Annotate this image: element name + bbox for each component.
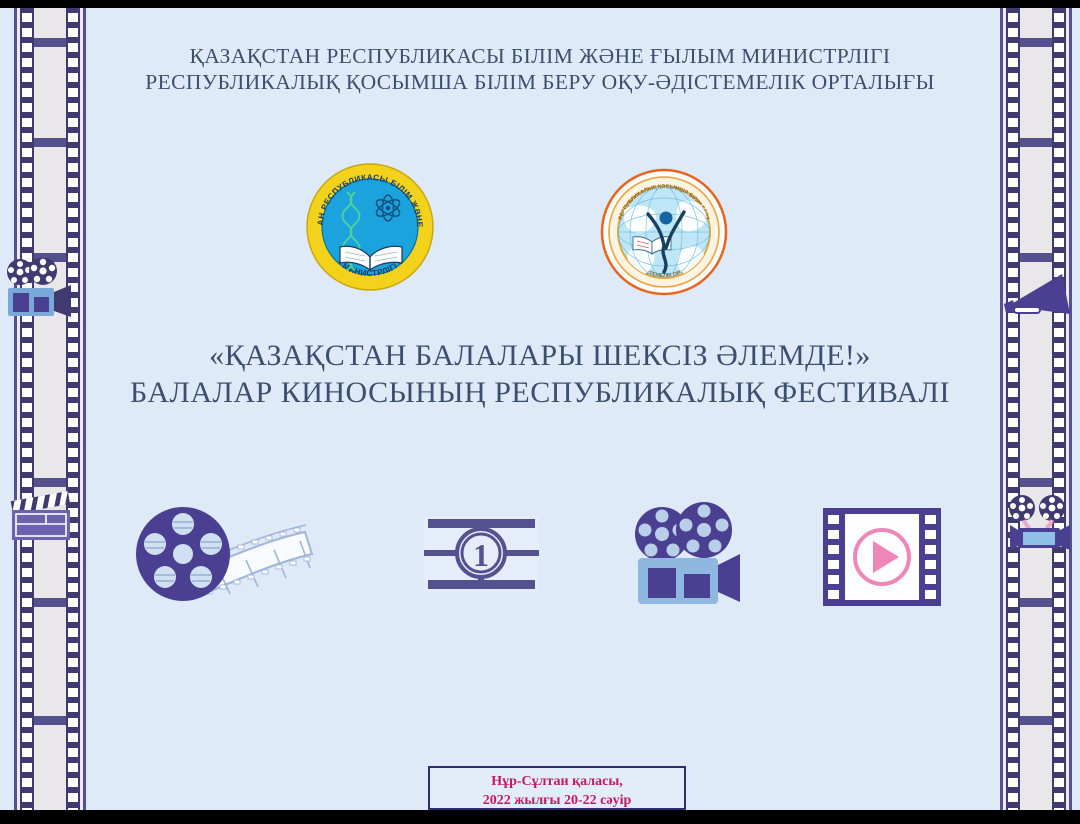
play-frame-icon xyxy=(823,508,941,606)
film-frame-divider xyxy=(1020,138,1052,147)
header-line-centre: РЕСПУБЛИКАЛЫҚ ҚОСЫМША БІЛІМ БЕРУ ОҚУ-ӘДІ… xyxy=(90,70,990,96)
film-frame-divider xyxy=(34,716,66,725)
republican-centre-emblem: РЕСПУБЛИКАЛЫҚ ҚОСЫМША БІЛІМ БЕРУ ОҚУ-ӘДІ… xyxy=(600,168,728,296)
emblem-row: ҚАЗАҚСТАН РЕСПУБЛИКАСЫ БІЛІМ ЖӘНЕ ҒЫЛЫМ … xyxy=(0,160,1080,300)
presentation-slide: ҚАЗАҚСТАН РЕСПУБЛИКАСЫ БІЛІМ ЖӘНЕ ҒЫЛЫМ … xyxy=(0,8,1080,810)
letterbox-bar-bottom xyxy=(0,810,1080,824)
festival-title-line-2: БАЛАЛАР КИНОСЫНЫҢ РЕСПУБЛИКАЛЫҚ ФЕСТИВАЛ… xyxy=(60,375,1020,412)
cinema-icon-row: 1 xyxy=(0,498,1080,618)
festival-title-line-1: «ҚАЗАҚСТАН БАЛАЛАРЫ ШЕКСІЗ ӘЛЕМДЕ!» xyxy=(60,338,1020,375)
organisation-header: ҚАЗАҚСТАН РЕСПУБЛИКАСЫ БІЛІМ ЖӘНЕ ҒЫЛЫМ … xyxy=(90,44,990,96)
venue-date-box: Нұр-Сұлтан қаласы, 2022 жылғы 20-22 сәуі… xyxy=(428,766,686,810)
event-dates: 2022 жылғы 20-22 сәуір xyxy=(430,791,684,810)
film-reel-icon xyxy=(130,502,345,607)
ministry-of-education-emblem: ҚАЗАҚСТАН РЕСПУБЛИКАСЫ БІЛІМ ЖӘНЕ ҒЫЛЫМ … xyxy=(305,162,435,292)
movie-camera-icon xyxy=(632,502,742,607)
film-frame-divider xyxy=(1020,38,1052,47)
film-sprocket-holes xyxy=(1052,8,1066,810)
countdown-digit: 1 xyxy=(473,537,489,573)
film-sprocket-holes xyxy=(20,8,34,810)
movie-camera-icon-left xyxy=(5,258,77,320)
clapperboard-icon xyxy=(8,486,74,544)
movie-camera-icon-right xyxy=(1002,492,1078,554)
film-frame-divider xyxy=(34,38,66,47)
header-line-ministry: ҚАЗАҚСТАН РЕСПУБЛИКАСЫ БІЛІМ ЖӘНЕ ҒЫЛЫМ … xyxy=(90,44,990,70)
film-frame-divider xyxy=(1020,716,1052,725)
countdown-leader-icon: 1 xyxy=(424,516,539,592)
venue-city: Нұр-Сұлтан қаласы, xyxy=(430,772,684,791)
film-frame-divider xyxy=(1020,478,1052,487)
film-frame-divider xyxy=(34,138,66,147)
festival-title: «ҚАЗАҚСТАН БАЛАЛАРЫ ШЕКСІЗ ӘЛЕМДЕ!» БАЛА… xyxy=(60,338,1020,411)
letterbox-bar-top xyxy=(0,0,1080,8)
megaphone-icon xyxy=(1000,266,1076,328)
film-strip-frames-right xyxy=(1020,8,1052,810)
